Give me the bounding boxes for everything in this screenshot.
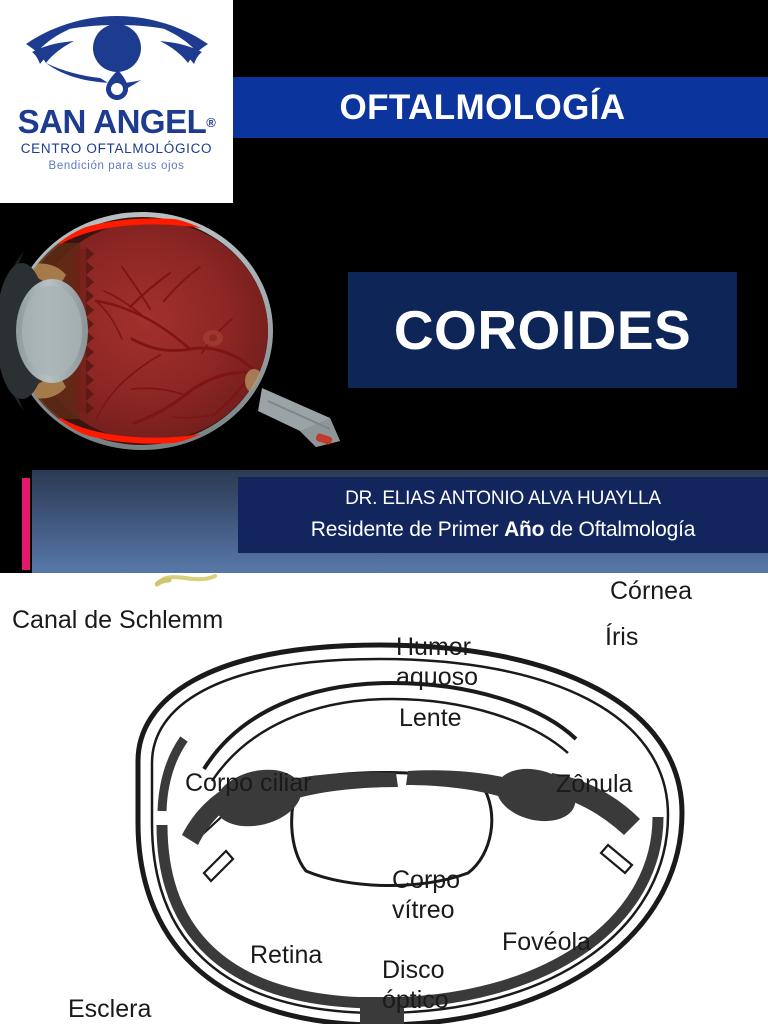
eye-globe-photo-graphic xyxy=(0,203,348,468)
logo-wordmark: SAN ANGEL® xyxy=(18,105,216,138)
label-lente: Lente xyxy=(399,704,462,732)
yellow-highlight-mark-icon xyxy=(155,573,217,587)
logo-subtitle: CENTRO OFTALMOLÓGICO xyxy=(21,141,213,156)
label-retina: Retina xyxy=(250,941,322,969)
slide-title-box: COROIDES xyxy=(348,272,737,388)
label-foveola: Fovéola xyxy=(502,928,591,956)
presenter-role-suffix: de Oftalmología xyxy=(544,518,695,541)
registered-trademark-icon: ® xyxy=(206,115,215,130)
label-esclera: Esclera xyxy=(68,995,151,1023)
label-humor-aquoso-line2: aquoso xyxy=(396,663,478,691)
label-zonula: Zônula xyxy=(556,770,633,798)
label-canal-de-schlemm: Canal de Schlemm xyxy=(12,606,223,634)
eye-with-wings-logo-icon xyxy=(22,8,212,104)
label-cornea: Córnea xyxy=(610,577,692,605)
byline-box: DR. ELIAS ANTONIO ALVA HUAYLLA Residente… xyxy=(238,477,768,553)
eye-globe-photograph xyxy=(0,203,348,468)
presentation-slide: SAN ANGEL® CENTRO OFTALMOLÓGICO Bendició… xyxy=(0,0,768,573)
label-corpo-ciliar: Corpo ciliar xyxy=(185,769,311,797)
logo-wordmark-text: SAN ANGEL xyxy=(18,103,207,140)
label-corpo-vitreo-line1: Corpo xyxy=(392,866,460,894)
label-corpo-vitreo-line2: vítreo xyxy=(392,896,455,924)
eye-cross-section-graphic: Canal de Schlemm Córnea Íris Humor aquos… xyxy=(0,573,768,1024)
presenter-role: Residente de Primer Año de Oftalmología xyxy=(311,517,695,542)
slide-title: COROIDES xyxy=(394,303,691,358)
label-iris: Íris xyxy=(605,622,638,651)
header-title: OFTALMOLOGÍA xyxy=(339,90,661,125)
label-disco-optico-line2: óptico xyxy=(382,986,449,1014)
logo-tagline: Bendición para sus ojos xyxy=(49,160,185,172)
presenter-role-emphasis: Año xyxy=(504,518,544,541)
accent-bar xyxy=(22,478,30,570)
presenter-name: DR. ELIAS ANTONIO ALVA HUAYLLA xyxy=(345,488,661,511)
presenter-role-prefix: Residente de Primer xyxy=(311,518,504,541)
label-disco-optico-line1: Disco xyxy=(382,956,445,984)
eye-anatomy-diagram: Canal de Schlemm Córnea Íris Humor aquos… xyxy=(0,573,768,1024)
header-banner: OFTALMOLOGÍA xyxy=(233,77,768,138)
label-humor-aquoso-line1: Humor xyxy=(396,633,471,661)
brand-logo-panel: SAN ANGEL® CENTRO OFTALMOLÓGICO Bendició… xyxy=(0,0,233,203)
